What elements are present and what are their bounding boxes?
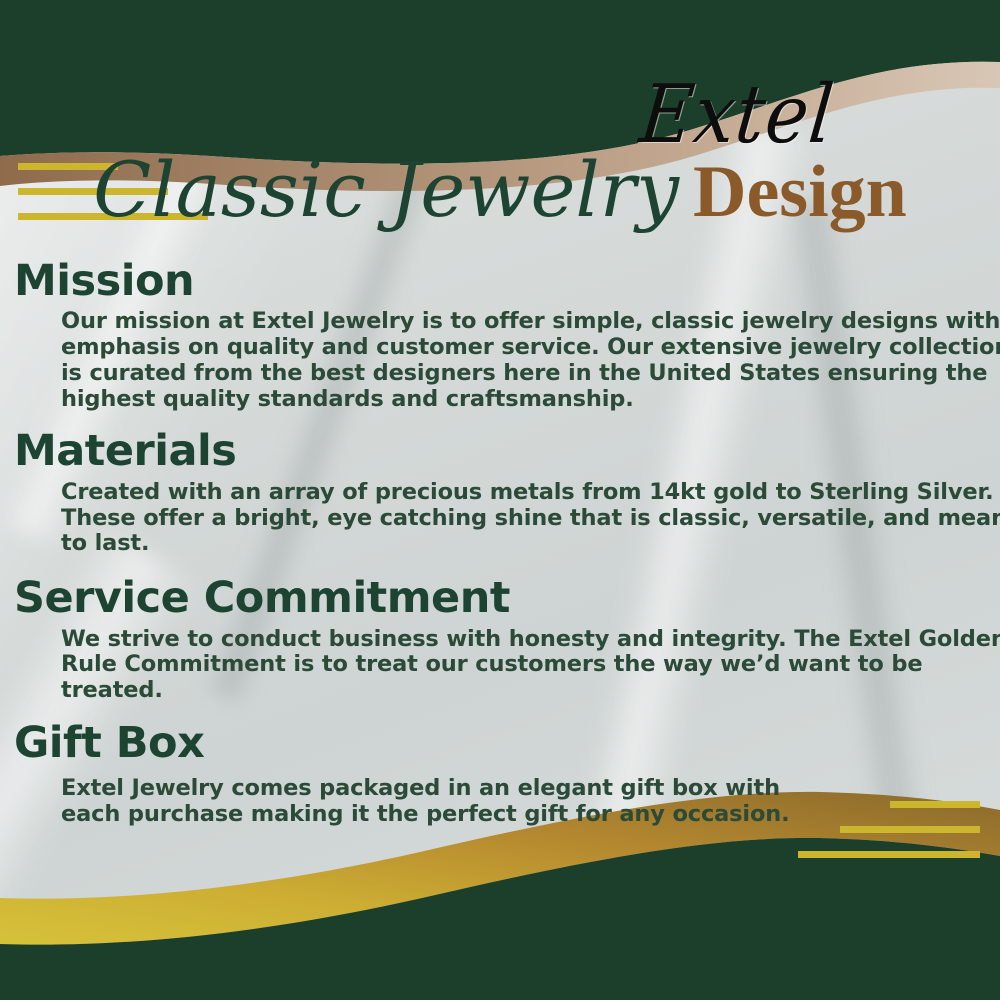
body-line: Our mission at Extel Jewelry is to offer…: [61, 309, 972, 335]
body-line: is curated from the best designers here …: [61, 361, 972, 387]
page-title: Classic JewelryDesign: [0, 152, 1000, 229]
section-body-service-commitment: We strive to conduct business with hones…: [0, 627, 1000, 704]
content-sections: Mission Our mission at Extel Jewelry is …: [0, 258, 1000, 842]
section-body-materials: Created with an array of precious metals…: [0, 480, 1000, 557]
section-heading-materials: Materials: [0, 428, 1000, 474]
body-line: We strive to conduct business with hones…: [61, 627, 972, 653]
poster-canvas: Extel Classic JewelryDesign Mission Our …: [0, 0, 1000, 1000]
section-materials: Materials Created with an array of preci…: [0, 428, 1000, 557]
section-mission: Mission Our mission at Extel Jewelry is …: [0, 258, 1000, 412]
body-line: treated.: [61, 678, 972, 704]
section-service-commitment: Service Commitment We strive to conduct …: [0, 575, 1000, 704]
page-title-accent: Design: [693, 151, 907, 233]
body-line: to last.: [61, 531, 972, 557]
body-line: These offer a bright, eye catching shine…: [61, 506, 972, 532]
body-line: emphasis on quality and customer service…: [61, 335, 972, 361]
section-body-mission: Our mission at Extel Jewelry is to offer…: [0, 309, 1000, 412]
section-gift-box: Gift Box Extel Jewelry comes packaged in…: [0, 720, 1000, 828]
body-line: Created with an array of precious metals…: [61, 480, 972, 506]
body-line: each purchase making it the perfect gift…: [61, 802, 972, 828]
body-line: Extel Jewelry comes packaged in an elega…: [61, 776, 972, 802]
body-line: highest quality standards and craftsmans…: [61, 387, 972, 413]
page-title-main: Classic Jewelry: [93, 145, 679, 234]
section-body-gift-box: Extel Jewelry comes packaged in an elega…: [0, 776, 1000, 828]
section-heading-service-commitment: Service Commitment: [0, 575, 1000, 621]
body-line: Rule Commitment is to treat our customer…: [61, 652, 972, 678]
section-heading-gift-box: Gift Box: [0, 720, 1000, 766]
decor-rule: [798, 851, 980, 858]
section-heading-mission: Mission: [0, 258, 1000, 304]
